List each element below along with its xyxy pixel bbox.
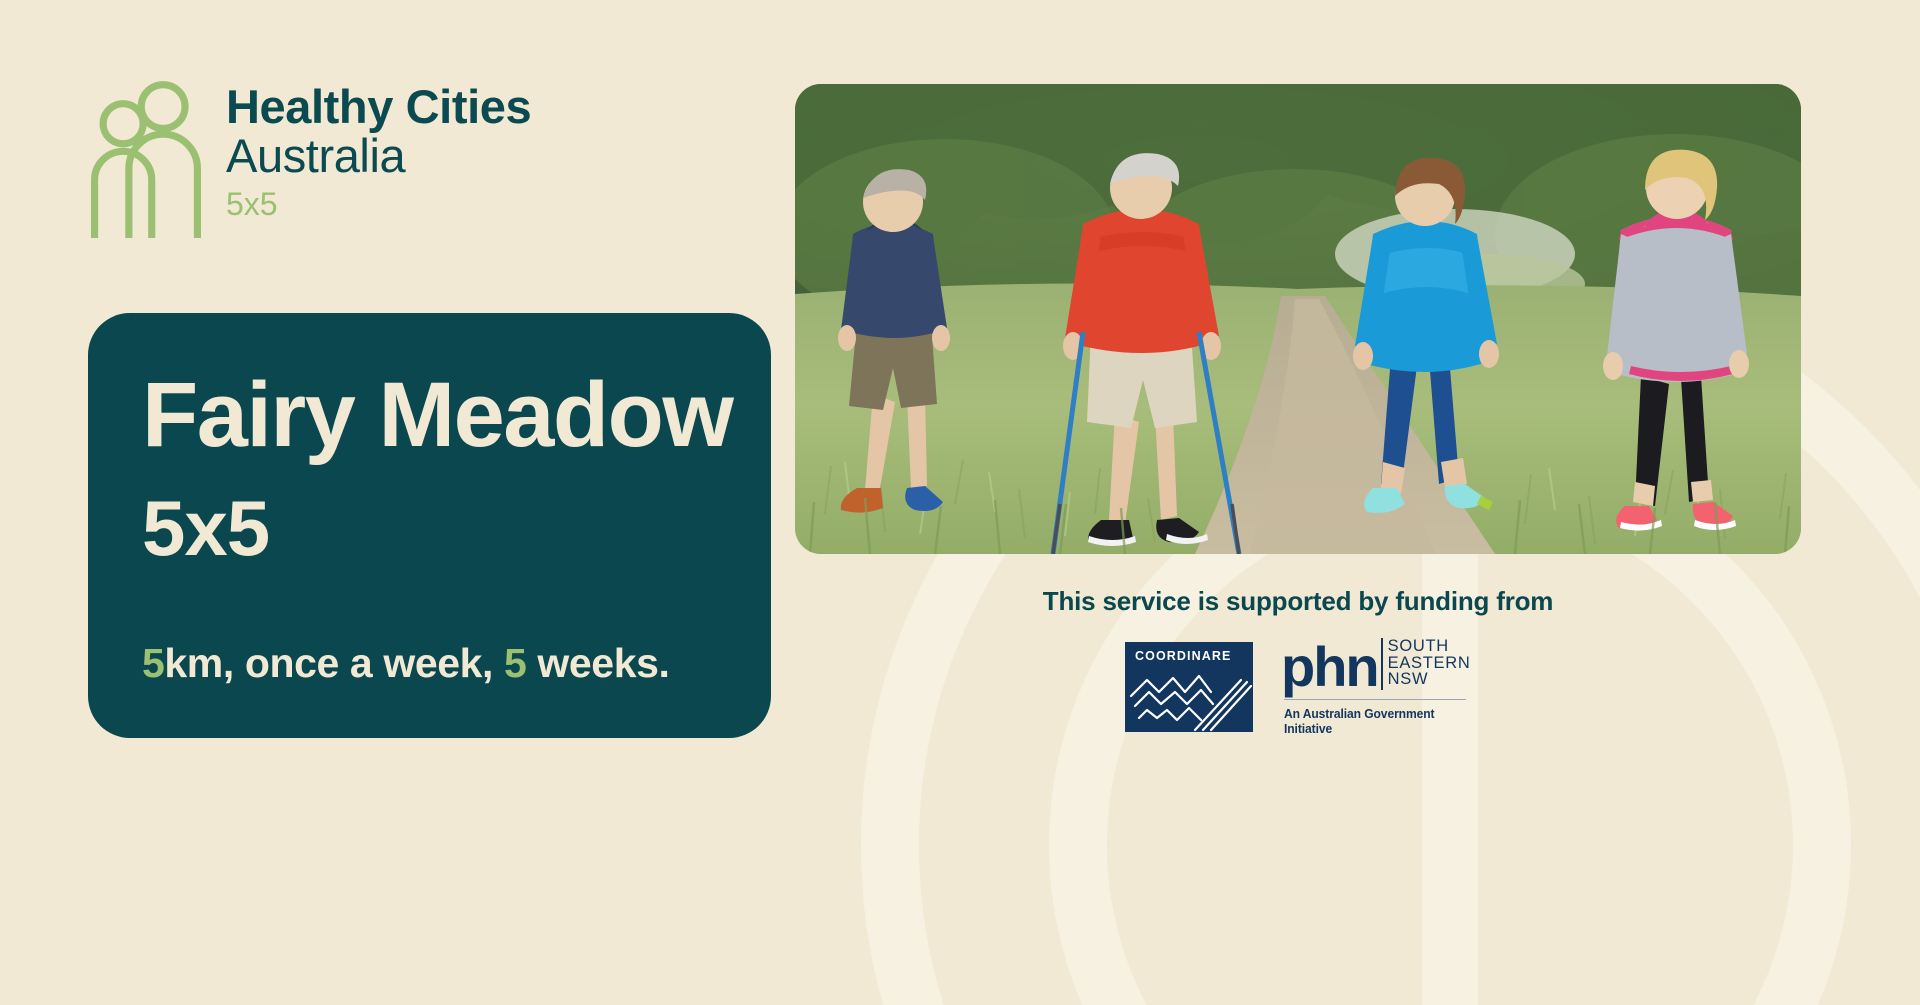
phn-wordmark-row: phn SOUTH EASTERN NSW xyxy=(1281,638,1471,690)
program-tagline: 5km, once a week, 5 weeks. xyxy=(142,641,717,686)
tagline-end: weeks. xyxy=(526,640,669,686)
brand-line-2: Australia xyxy=(226,131,531,180)
event-card: Fairy Meadow 5x5 5km, once a week, 5 wee… xyxy=(88,313,771,738)
poster-canvas: Healthy Cities Australia 5x5 Fairy Meado… xyxy=(0,0,1920,1005)
phn-wordmark: phn xyxy=(1281,644,1378,690)
tagline-accent-1: 5 xyxy=(142,640,164,686)
phn-region-label: SOUTH EASTERN NSW xyxy=(1381,638,1471,690)
two-people-icon xyxy=(88,78,204,238)
tagline-accent-2: 5 xyxy=(504,640,526,686)
brand-lockup: Healthy Cities Australia 5x5 xyxy=(88,78,531,238)
funder-logo-row: COORDINARE phn SOUTH EASTERN NSW An Aust… xyxy=(795,638,1801,736)
svg-text:COORDINARE: COORDINARE xyxy=(1135,649,1231,663)
phn-logo: phn SOUTH EASTERN NSW An Australian Gove… xyxy=(1281,638,1471,736)
brand-subtitle: 5x5 xyxy=(226,187,531,222)
coordinare-logo: COORDINARE xyxy=(1125,642,1253,732)
funding-statement: This service is supported by funding fro… xyxy=(795,586,1801,617)
program-name: 5x5 xyxy=(142,489,717,567)
phn-divider xyxy=(1284,699,1466,700)
page-title: Fairy Meadow xyxy=(142,369,717,461)
brand-line-1: Healthy Cities xyxy=(226,82,531,131)
brand-text-block: Healthy Cities Australia 5x5 xyxy=(226,78,531,222)
phn-initiative-label: An Australian Government Initiative xyxy=(1284,706,1458,736)
tagline-mid: km, once a week, xyxy=(164,640,504,686)
walking-group-photo xyxy=(795,84,1801,554)
